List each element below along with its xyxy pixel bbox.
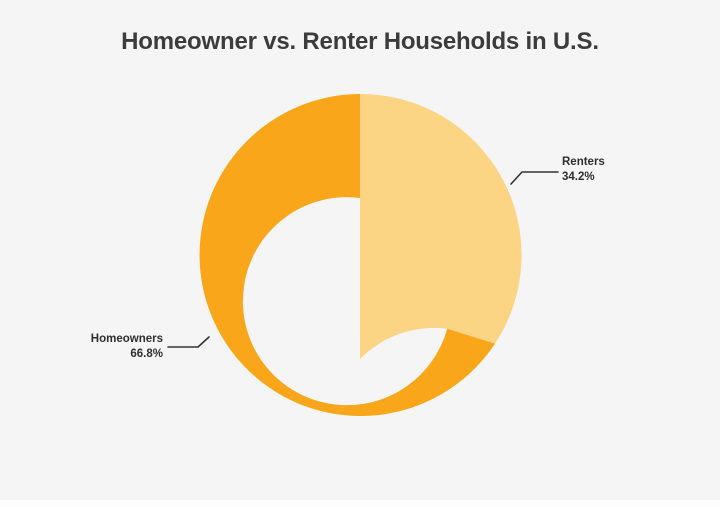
leader-line-renters xyxy=(511,172,558,184)
chart-card: Homeowner vs. Renter Households in U.S. … xyxy=(0,0,720,500)
donut-chart xyxy=(0,0,720,500)
slice-label-renters-value: 34.2% xyxy=(562,170,605,185)
donut-svg xyxy=(0,0,720,500)
slice-label-homeowners-value: 66.8% xyxy=(91,347,163,362)
card-bottom-edge xyxy=(0,500,720,507)
slice-label-renters: Renters 34.2% xyxy=(562,155,605,185)
slice-label-renters-name: Renters xyxy=(562,155,605,170)
slice-label-homeowners: Homeowners 66.8% xyxy=(91,332,163,362)
leader-line-homeowners xyxy=(168,337,209,347)
slice-label-homeowners-name: Homeowners xyxy=(91,332,163,347)
donut-slice-renters[interactable] xyxy=(360,94,522,359)
